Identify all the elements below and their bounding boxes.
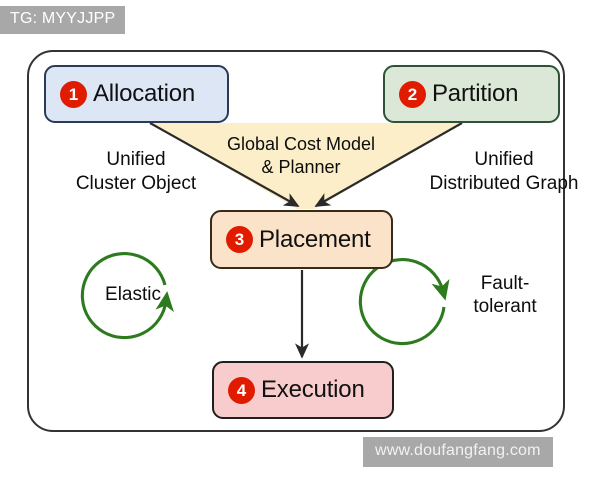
cycle-label-elastic: Elastic [85, 283, 181, 306]
funnel-caption-line2: & Planner [196, 156, 406, 179]
watermark-top-left: TG: MYYJJPP [0, 6, 125, 34]
stage-badge-2: 2 [399, 81, 426, 108]
funnel-caption: Global Cost Model & Planner [196, 133, 406, 179]
edge-label-left-line1: Unified [62, 148, 210, 172]
cycle-label-fault-tolerant: Fault- tolerant [460, 272, 550, 318]
edge-label-left-line2: Cluster Object [62, 172, 210, 196]
stage-label-partition: Partition [432, 80, 518, 108]
watermark-bottom-right: www.doufangfang.com [363, 437, 553, 467]
edge-label-right-line1: Unified [418, 148, 590, 172]
stage-label-placement: Placement [259, 226, 371, 254]
edge-label-left: Unified Cluster Object [62, 148, 210, 196]
funnel-caption-line1: Global Cost Model [196, 133, 406, 156]
cycle-label-elastic-line1: Elastic [85, 283, 181, 306]
cycle-label-fault-line2: tolerant [460, 295, 550, 318]
stage-label-allocation: Allocation [93, 80, 195, 108]
stage-box-allocation[interactable]: 1 Allocation [44, 65, 229, 123]
stage-badge-1: 1 [60, 81, 87, 108]
stage-badge-3: 3 [226, 226, 253, 253]
cycle-label-fault-line1: Fault- [460, 272, 550, 295]
stage-label-execution: Execution [261, 376, 365, 404]
stage-badge-4: 4 [228, 377, 255, 404]
edge-label-right-line2: Distributed Graph [418, 172, 590, 196]
stage-box-partition[interactable]: 2 Partition [383, 65, 560, 123]
stage-box-placement[interactable]: 3 Placement [210, 210, 393, 269]
edge-label-right: Unified Distributed Graph [418, 148, 590, 196]
stage-box-execution[interactable]: 4 Execution [212, 361, 394, 419]
